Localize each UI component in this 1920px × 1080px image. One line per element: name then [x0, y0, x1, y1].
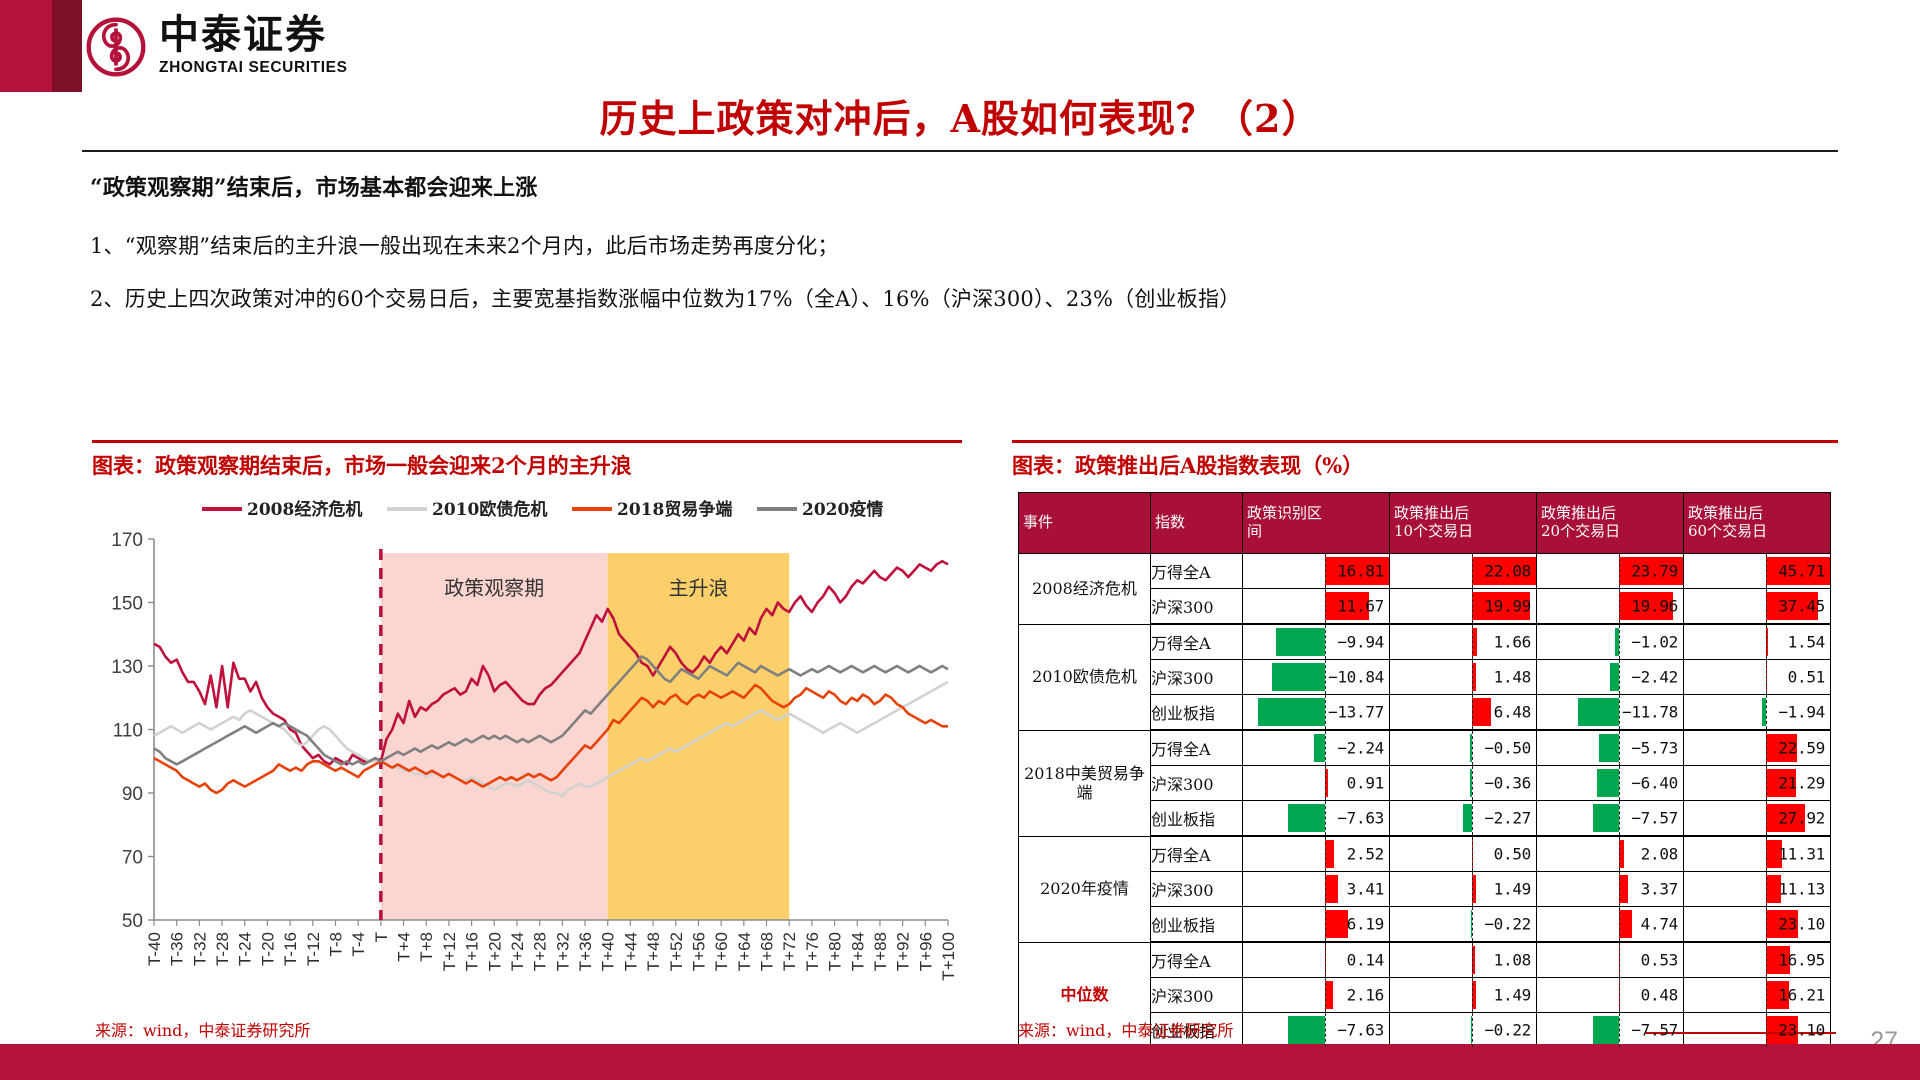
- negative-bar: [1597, 769, 1619, 797]
- table-row: 2010欧债危机万得全A−9.941.66−1.021.54: [1019, 624, 1831, 660]
- value-label: 0.51: [1788, 668, 1825, 687]
- value-cell: −10.84: [1243, 660, 1390, 695]
- negative-bar: [1599, 734, 1619, 762]
- value-cell: 37.45: [1684, 589, 1831, 625]
- zero-axis: [1472, 731, 1473, 765]
- value-label: 0.53: [1641, 951, 1678, 970]
- value-cell: −7.57: [1537, 801, 1684, 837]
- col-header-index: 指数: [1151, 493, 1243, 554]
- right-source-note: 来源：wind，中泰证券研究所: [1018, 1017, 1233, 1041]
- zero-axis: [1472, 978, 1473, 1012]
- value-cell: 16.81: [1243, 554, 1390, 589]
- logo-english-name: ZHONGTAI SECURITIES: [159, 59, 348, 77]
- value-cell: 23.79: [1537, 554, 1684, 589]
- value-cell: 1.08: [1390, 942, 1537, 978]
- event-cell: 2008经济危机: [1019, 554, 1151, 625]
- value-cell: 21.29: [1684, 766, 1831, 801]
- event-cell: 2018中美贸易争端: [1019, 730, 1151, 836]
- y-tick-label: 110: [113, 721, 143, 742]
- positive-bar: [1619, 910, 1632, 938]
- table-header-row: 事件 指数 政策识别区间 政策推出后10个交易日 政策推出后20个交易日 政策推…: [1019, 493, 1831, 554]
- x-tick-label: T+88: [871, 932, 890, 971]
- zero-axis: [1766, 978, 1767, 1012]
- value-cell: 11.67: [1243, 589, 1390, 625]
- index-cell: 沪深300: [1151, 872, 1243, 907]
- zero-axis: [1325, 1013, 1326, 1047]
- x-tick-label: T+20: [485, 932, 504, 971]
- value-cell: 6.48: [1390, 695, 1537, 731]
- value-label: 16.21: [1778, 986, 1825, 1005]
- index-cell: 沪深300: [1151, 589, 1243, 625]
- zero-axis: [1472, 1013, 1473, 1047]
- table-row: 2020年疫情万得全A2.520.502.0811.31: [1019, 836, 1831, 872]
- value-cell: 1.66: [1390, 624, 1537, 660]
- value-cell: 0.53: [1537, 942, 1684, 978]
- value-label: 0.14: [1347, 951, 1384, 970]
- left-panel-rule: [92, 440, 962, 443]
- zero-axis: [1472, 660, 1473, 694]
- zero-axis: [1325, 943, 1326, 977]
- index-cell: 创业板指: [1151, 695, 1243, 731]
- value-cell: 0.51: [1684, 660, 1831, 695]
- x-tick-label: T+56: [689, 932, 708, 971]
- value-cell: 22.59: [1684, 730, 1831, 766]
- legend-label: 2020疫情: [802, 499, 883, 520]
- value-label: −10.84: [1328, 668, 1384, 687]
- x-tick-label: T-12: [304, 932, 323, 966]
- x-tick-label: T+68: [758, 932, 777, 971]
- value-label: 6.19: [1347, 915, 1384, 934]
- zero-axis: [1472, 907, 1473, 941]
- observation-band-label: 政策观察期: [444, 576, 544, 600]
- x-tick-label: T+40: [599, 932, 618, 971]
- value-cell: 6.19: [1243, 907, 1390, 943]
- value-cell: 23.10: [1684, 907, 1831, 943]
- index-cell: 万得全A: [1151, 942, 1243, 978]
- index-cell: 万得全A: [1151, 624, 1243, 660]
- value-label: 1.48: [1494, 668, 1531, 687]
- x-tick-label: T+16: [463, 932, 482, 971]
- zero-axis: [1766, 625, 1767, 659]
- zero-axis: [1619, 695, 1620, 729]
- value-label: −9.94: [1337, 633, 1384, 652]
- zero-axis: [1619, 837, 1620, 871]
- index-cell: 沪深300: [1151, 660, 1243, 695]
- value-cell: 19.96: [1537, 589, 1684, 625]
- value-label: 11.31: [1778, 845, 1825, 864]
- y-tick-label: 150: [111, 594, 143, 615]
- zero-axis: [1472, 625, 1473, 659]
- x-tick-label: T+52: [667, 932, 686, 971]
- performance-table: 事件 指数 政策识别区间 政策推出后10个交易日 政策推出后20个交易日 政策推…: [1018, 492, 1831, 1049]
- value-cell: 3.37: [1537, 872, 1684, 907]
- col-header-after-10d: 政策推出后10个交易日: [1390, 493, 1537, 554]
- right-panel-header: 图表：政策推出后A股指数表现（%）: [1012, 440, 1838, 480]
- value-label: 2.08: [1641, 845, 1678, 864]
- y-tick-label: 170: [111, 530, 143, 551]
- value-label: 1.49: [1494, 880, 1531, 899]
- value-cell: −0.22: [1390, 907, 1537, 943]
- title-divider: [82, 150, 1838, 152]
- value-label: −0.22: [1484, 1021, 1531, 1040]
- legend-label: 2008经济危机: [247, 499, 362, 520]
- zero-axis: [1325, 766, 1326, 800]
- x-tick-label: T-32: [190, 932, 209, 966]
- value-cell: 16.95: [1684, 942, 1831, 978]
- right-panel-title: 图表：政策推出后A股指数表现（%）: [1012, 450, 1838, 480]
- chart-canvas: 政策观察期主升浪507090110130150170T-40T-36T-32T-…: [92, 487, 962, 1032]
- zero-axis: [1325, 554, 1326, 588]
- value-cell: 2.16: [1243, 978, 1390, 1013]
- value-cell: −1.02: [1537, 624, 1684, 660]
- brand-accent-bar-left: [0, 0, 52, 92]
- value-label: 22.59: [1778, 739, 1825, 758]
- value-label: −0.50: [1484, 739, 1531, 758]
- index-cell: 万得全A: [1151, 554, 1243, 589]
- value-label: −0.36: [1484, 774, 1531, 793]
- zero-axis: [1619, 801, 1620, 835]
- zero-axis: [1472, 554, 1473, 588]
- zhongtai-logo-icon: [85, 16, 147, 78]
- negative-bar: [1593, 1016, 1619, 1044]
- value-label: 1.54: [1788, 633, 1825, 652]
- y-tick-label: 70: [122, 848, 143, 869]
- legend-label: 2010欧债危机: [432, 499, 547, 520]
- negative-bar: [1314, 734, 1325, 762]
- value-cell: −2.24: [1243, 730, 1390, 766]
- value-label: 1.49: [1494, 986, 1531, 1005]
- value-cell: 0.48: [1537, 978, 1684, 1013]
- value-cell: 19.99: [1390, 589, 1537, 625]
- zero-axis: [1766, 1013, 1767, 1047]
- zero-axis: [1325, 625, 1326, 659]
- value-cell: −2.27: [1390, 801, 1537, 837]
- zero-axis: [1325, 872, 1326, 906]
- zero-axis: [1619, 660, 1620, 694]
- x-tick-label: T+100: [939, 932, 958, 981]
- negative-bar: [1276, 628, 1324, 656]
- value-label: −1.94: [1778, 703, 1825, 722]
- value-cell: 27.92: [1684, 801, 1831, 837]
- zero-axis: [1766, 837, 1767, 871]
- zero-axis: [1766, 554, 1767, 588]
- zero-axis: [1472, 766, 1473, 800]
- value-label: 2.52: [1347, 845, 1384, 864]
- x-tick-label: T+44: [621, 932, 640, 971]
- value-label: −2.24: [1337, 739, 1384, 758]
- value-label: 6.48: [1494, 703, 1531, 722]
- zero-axis: [1472, 801, 1473, 835]
- value-cell: −7.57: [1537, 1013, 1684, 1049]
- logo-chinese-name: 中泰证券: [159, 14, 348, 56]
- value-label: −7.63: [1337, 809, 1384, 828]
- x-tick-label: T-28: [213, 932, 232, 966]
- brand-accent-bar-right: [52, 0, 82, 92]
- value-label: 16.95: [1778, 951, 1825, 970]
- x-tick-label: T+12: [440, 932, 459, 971]
- index-cell: 万得全A: [1151, 730, 1243, 766]
- positive-bar: [1325, 910, 1349, 938]
- col-header-after-20d: 政策推出后20个交易日: [1537, 493, 1684, 554]
- zero-axis: [1619, 589, 1620, 623]
- main-wave-band-label: 主升浪: [668, 576, 728, 600]
- zero-axis: [1619, 907, 1620, 941]
- x-tick-label: T+36: [576, 932, 595, 971]
- company-logo: 中泰证券 ZHONGTAI SECURITIES: [85, 14, 348, 78]
- value-cell: 1.54: [1684, 624, 1831, 660]
- x-tick-label: T-24: [236, 932, 255, 966]
- value-label: 27.92: [1778, 809, 1825, 828]
- legend-label: 2018贸易争端: [617, 499, 732, 520]
- footer-bar: [0, 1044, 1920, 1080]
- zero-axis: [1619, 872, 1620, 906]
- value-cell: −11.78: [1537, 695, 1684, 731]
- value-label: 0.91: [1347, 774, 1384, 793]
- col-header-event: 事件: [1019, 493, 1151, 554]
- negative-bar: [1258, 698, 1325, 726]
- value-label: 45.71: [1778, 562, 1825, 581]
- table-row: 2018中美贸易争端万得全A−2.24−0.50−5.7322.59: [1019, 730, 1831, 766]
- zero-axis: [1766, 907, 1767, 941]
- value-label: 37.45: [1778, 597, 1825, 616]
- x-tick-label: T+24: [508, 932, 527, 971]
- index-cell: 沪深300: [1151, 978, 1243, 1013]
- zero-axis: [1619, 625, 1620, 659]
- x-tick-label: T-36: [168, 932, 187, 966]
- x-tick-label: T+76: [803, 932, 822, 971]
- positive-bar: [1619, 875, 1628, 903]
- zero-axis: [1619, 978, 1620, 1012]
- x-tick-label: T+48: [644, 932, 663, 971]
- table-row: 2008经济危机万得全A16.8122.0823.7945.71: [1019, 554, 1831, 589]
- zero-axis: [1325, 589, 1326, 623]
- value-cell: 0.91: [1243, 766, 1390, 801]
- value-cell: 16.21: [1684, 978, 1831, 1013]
- value-cell: −0.22: [1390, 1013, 1537, 1049]
- y-tick-label: 50: [122, 911, 143, 932]
- value-label: −11.78: [1622, 703, 1678, 722]
- negative-bar: [1288, 804, 1325, 832]
- value-label: 0.50: [1494, 845, 1531, 864]
- value-label: 2.16: [1347, 986, 1384, 1005]
- value-cell: 11.13: [1684, 872, 1831, 907]
- value-label: −2.42: [1631, 668, 1678, 687]
- x-tick-label: T+96: [916, 932, 935, 971]
- zero-axis: [1766, 589, 1767, 623]
- x-tick-label: T+8: [417, 932, 436, 962]
- body-point-1: 1、“观察期”结束后的主升浪一般出现在未来2个月内，此后市场走势再度分化；: [90, 230, 839, 260]
- x-tick-label: T+28: [531, 932, 550, 971]
- x-tick-label: T-4: [349, 932, 368, 957]
- value-cell: −5.73: [1537, 730, 1684, 766]
- zero-axis: [1472, 872, 1473, 906]
- x-tick-label: T+80: [826, 932, 845, 971]
- value-label: −7.63: [1337, 1021, 1384, 1040]
- value-label: 23.10: [1778, 915, 1825, 934]
- zero-axis: [1619, 766, 1620, 800]
- zero-axis: [1325, 695, 1326, 729]
- value-label: 16.81: [1337, 562, 1384, 581]
- x-tick-label: T+60: [712, 932, 731, 971]
- value-cell: 0.50: [1390, 836, 1537, 872]
- zero-axis: [1766, 695, 1767, 729]
- value-cell: −13.77: [1243, 695, 1390, 731]
- zero-axis: [1325, 837, 1326, 871]
- x-tick-label: T+84: [848, 932, 867, 971]
- negative-bar: [1288, 1016, 1325, 1044]
- value-cell: −2.42: [1537, 660, 1684, 695]
- zero-axis: [1472, 943, 1473, 977]
- index-cell: 沪深300: [1151, 766, 1243, 801]
- value-label: −13.77: [1328, 703, 1384, 722]
- x-tick-label: T-8: [326, 932, 345, 957]
- zero-axis: [1766, 660, 1767, 694]
- positive-bar: [1325, 875, 1338, 903]
- value-cell: −0.36: [1390, 766, 1537, 801]
- negative-bar: [1610, 663, 1618, 691]
- value-label: 1.08: [1494, 951, 1531, 970]
- col-header-after-60d: 政策推出后60个交易日: [1684, 493, 1831, 554]
- value-cell: 23.10: [1684, 1013, 1831, 1049]
- value-label: 19.96: [1631, 597, 1678, 616]
- table-body: 2008经济危机万得全A16.8122.0823.7945.71沪深30011.…: [1019, 554, 1831, 1049]
- value-label: 23.10: [1778, 1021, 1825, 1040]
- value-label: 1.66: [1494, 633, 1531, 652]
- zero-axis: [1472, 589, 1473, 623]
- value-label: 4.74: [1641, 915, 1678, 934]
- value-label: 11.67: [1337, 597, 1384, 616]
- left-panel-title: 图表：政策观察期结束后，市场一般会迎来2个月的主升浪: [92, 450, 962, 480]
- zero-axis: [1766, 766, 1767, 800]
- value-label: 22.08: [1484, 562, 1531, 581]
- y-tick-label: 90: [122, 784, 143, 805]
- negative-bar: [1463, 804, 1471, 832]
- value-cell: 1.49: [1390, 978, 1537, 1013]
- zero-axis: [1766, 943, 1767, 977]
- y-tick-label: 130: [111, 657, 143, 678]
- zero-axis: [1619, 731, 1620, 765]
- x-tick-label: T+32: [553, 932, 572, 971]
- zero-axis: [1766, 801, 1767, 835]
- value-cell: −7.63: [1243, 1013, 1390, 1049]
- value-cell: 2.08: [1537, 836, 1684, 872]
- page-title: 历史上政策对冲后，A股如何表现？（2）: [0, 88, 1920, 143]
- x-tick-label: T-16: [281, 932, 300, 966]
- zero-axis: [1766, 872, 1767, 906]
- zero-axis: [1619, 1013, 1620, 1047]
- lead-statement: “政策观察期”结束后，市场基本都会迎来上涨: [90, 170, 538, 202]
- negative-bar: [1272, 663, 1325, 691]
- value-label: −6.40: [1631, 774, 1678, 793]
- x-tick-label: T+72: [780, 932, 799, 971]
- value-label: −5.73: [1631, 739, 1678, 758]
- value-cell: 1.49: [1390, 872, 1537, 907]
- value-label: 19.99: [1484, 597, 1531, 616]
- positive-bar: [1472, 698, 1491, 726]
- zero-axis: [1325, 731, 1326, 765]
- value-cell: −9.94: [1243, 624, 1390, 660]
- value-cell: 4.74: [1537, 907, 1684, 943]
- line-chart: 政策观察期主升浪507090110130150170T-40T-36T-32T-…: [92, 487, 962, 1032]
- value-label: 0.48: [1641, 986, 1678, 1005]
- value-cell: 2.52: [1243, 836, 1390, 872]
- value-label: 23.79: [1631, 562, 1678, 581]
- value-label: −7.57: [1631, 1021, 1678, 1040]
- value-cell: −0.50: [1390, 730, 1537, 766]
- zero-axis: [1325, 801, 1326, 835]
- body-point-2: 2、历史上四次政策对冲的60个交易日后，主要宽基指数涨幅中位数为17%（全A）、…: [90, 283, 1240, 313]
- value-cell: −1.94: [1684, 695, 1831, 731]
- value-label: 11.13: [1778, 880, 1825, 899]
- negative-bar: [1593, 804, 1619, 832]
- zero-axis: [1619, 943, 1620, 977]
- index-cell: 创业板指: [1151, 801, 1243, 837]
- table-row: 中位数万得全A0.141.080.5316.95: [1019, 942, 1831, 978]
- x-tick-label: T: [372, 932, 391, 942]
- event-cell: 2010欧债危机: [1019, 624, 1151, 730]
- x-tick-label: T-40: [145, 932, 164, 966]
- value-cell: 0.14: [1243, 942, 1390, 978]
- value-cell: 22.08: [1390, 554, 1537, 589]
- positive-bar: [1325, 840, 1335, 868]
- value-label: −1.02: [1631, 633, 1678, 652]
- left-source-note: 来源：wind，中泰证券研究所: [95, 1017, 310, 1041]
- value-cell: −6.40: [1537, 766, 1684, 801]
- value-cell: 11.31: [1684, 836, 1831, 872]
- zero-axis: [1325, 978, 1326, 1012]
- value-label: 21.29: [1778, 774, 1825, 793]
- negative-bar: [1578, 698, 1618, 726]
- index-cell: 万得全A: [1151, 836, 1243, 872]
- value-label: 3.37: [1641, 880, 1678, 899]
- value-label: −7.57: [1631, 809, 1678, 828]
- x-tick-label: T+4: [395, 932, 414, 962]
- event-cell: 2020年疫情: [1019, 836, 1151, 942]
- main-wave-band: [608, 553, 789, 920]
- x-tick-label: T-20: [258, 932, 277, 966]
- value-cell: 1.48: [1390, 660, 1537, 695]
- value-cell: 3.41: [1243, 872, 1390, 907]
- zero-axis: [1472, 837, 1473, 871]
- zero-axis: [1325, 660, 1326, 694]
- x-tick-label: T+92: [894, 932, 913, 971]
- positive-bar: [1325, 981, 1333, 1009]
- zero-axis: [1325, 907, 1326, 941]
- value-cell: −7.63: [1243, 801, 1390, 837]
- value-cell: 45.71: [1684, 554, 1831, 589]
- zero-axis: [1472, 695, 1473, 729]
- col-header-policy-window: 政策识别区间: [1243, 493, 1390, 554]
- x-tick-label: T+64: [735, 932, 754, 971]
- value-label: 3.41: [1347, 880, 1384, 899]
- zero-axis: [1619, 554, 1620, 588]
- left-panel-header: 图表：政策观察期结束后，市场一般会迎来2个月的主升浪: [92, 440, 962, 480]
- value-label: −2.27: [1484, 809, 1531, 828]
- index-cell: 创业板指: [1151, 907, 1243, 943]
- zero-axis: [1766, 731, 1767, 765]
- right-panel-rule: [1012, 440, 1838, 443]
- value-label: −0.22: [1484, 915, 1531, 934]
